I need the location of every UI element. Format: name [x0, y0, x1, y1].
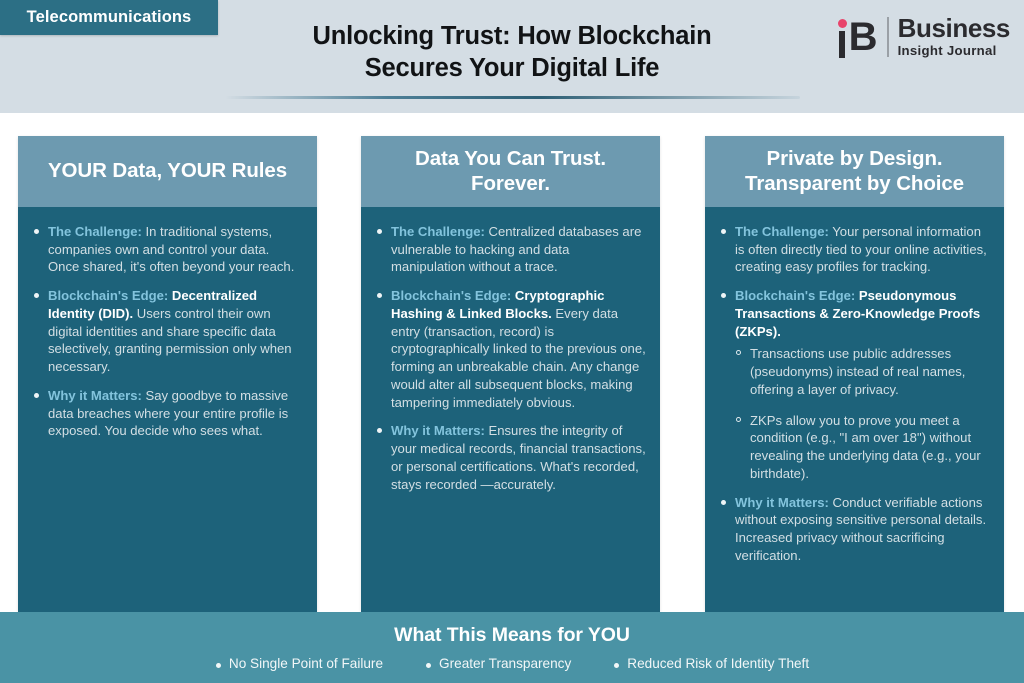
column-2-body: The Challenge: Centralized databases are…	[361, 207, 660, 612]
footer-item: Reduced Risk of Identity Theft	[613, 656, 809, 671]
list-item: Blockchain's Edge: Decentralized Identit…	[32, 287, 303, 376]
column-3-bullet-list: The Challenge: Your personal information…	[719, 223, 990, 564]
bullet-label: Why it Matters:	[735, 495, 829, 510]
brand-logo: B Business Insight Journal	[838, 13, 1010, 61]
column-2-header: Data You Can Trust. Forever.	[361, 136, 660, 207]
category-badge: Telecommunications	[0, 0, 218, 35]
bullet-label: Why it Matters:	[48, 388, 142, 403]
column-3-heading: Private by Design. Transparent by Choice	[719, 147, 990, 195]
bullet-label: Why it Matters:	[391, 423, 485, 438]
title-divider	[225, 96, 800, 99]
list-item: The Challenge: In traditional systems, c…	[32, 223, 303, 276]
logo-name-main: Business	[898, 15, 1010, 42]
list-item: Why it Matters: Say goodbye to massive d…	[32, 387, 303, 440]
infographic-page: Telecommunications Unlocking Trust: How …	[0, 0, 1024, 683]
bullet-label: Blockchain's Edge:	[391, 288, 511, 303]
column-1-bullet-list: The Challenge: In traditional systems, c…	[32, 223, 303, 440]
page-title-line-2: Secures Your Digital Life	[212, 52, 812, 84]
list-item: The Challenge: Centralized databases are…	[375, 223, 646, 276]
column-3-header: Private by Design. Transparent by Choice	[705, 136, 1004, 207]
list-item: Why it Matters: Ensures the integrity of…	[375, 422, 646, 493]
bullet-label: The Challenge:	[735, 224, 829, 239]
logo-i-stem-icon	[839, 31, 845, 58]
column-card-3: Private by Design. Transparent by Choice…	[705, 136, 1004, 612]
page-title: Unlocking Trust: How Blockchain Secures …	[212, 20, 812, 85]
column-1-heading: YOUR Data, YOUR Rules	[48, 159, 287, 183]
bullet-text: Every data entry (transaction, record) i…	[391, 306, 646, 410]
bullet-label: The Challenge:	[48, 224, 142, 239]
logo-wordmark: Business Insight Journal	[898, 15, 1010, 58]
column-card-2: Data You Can Trust. Forever. The Challen…	[361, 136, 660, 612]
logo-dot-icon	[838, 19, 847, 28]
footer-item: No Single Point of Failure	[215, 656, 383, 671]
footer: What This Means for YOU No Single Point …	[0, 612, 1024, 683]
logo-monogram-icon: B	[838, 16, 878, 58]
logo-divider	[887, 17, 889, 57]
column-2-heading: Data You Can Trust. Forever.	[375, 147, 646, 195]
list-item: ZKPs allow you to prove you meet a condi…	[735, 412, 990, 483]
logo-b-letter: B	[849, 17, 878, 57]
bullet-label: Blockchain's Edge:	[735, 288, 855, 303]
columns-container: YOUR Data, YOUR Rules The Challenge: In …	[0, 136, 1024, 612]
bullet-label: Blockchain's Edge:	[48, 288, 168, 303]
footer-item-list: No Single Point of Failure Greater Trans…	[215, 656, 809, 671]
list-item: The Challenge: Your personal information…	[719, 223, 990, 276]
footer-title: What This Means for YOU	[394, 624, 630, 647]
column-2-bullet-list: The Challenge: Centralized databases are…	[375, 223, 646, 493]
column-3-sub-bullet-list: Transactions use public addresses (pseud…	[735, 345, 990, 482]
column-1-header: YOUR Data, YOUR Rules	[18, 136, 317, 207]
column-card-1: YOUR Data, YOUR Rules The Challenge: In …	[18, 136, 317, 612]
list-item: Blockchain's Edge: Pseudonymous Transact…	[719, 287, 990, 482]
header: Telecommunications Unlocking Trust: How …	[0, 0, 1024, 113]
column-3-body: The Challenge: Your personal information…	[705, 207, 1004, 612]
column-1-body: The Challenge: In traditional systems, c…	[18, 207, 317, 612]
logo-name-sub: Insight Journal	[898, 43, 1010, 59]
list-item: Why it Matters: Conduct verifiable actio…	[719, 494, 990, 565]
list-item: Blockchain's Edge: Cryptographic Hashing…	[375, 287, 646, 411]
footer-item: Greater Transparency	[425, 656, 571, 671]
page-title-line-1: Unlocking Trust: How Blockchain	[212, 20, 812, 52]
list-item: Transactions use public addresses (pseud…	[735, 345, 990, 398]
bullet-label: The Challenge:	[391, 224, 485, 239]
